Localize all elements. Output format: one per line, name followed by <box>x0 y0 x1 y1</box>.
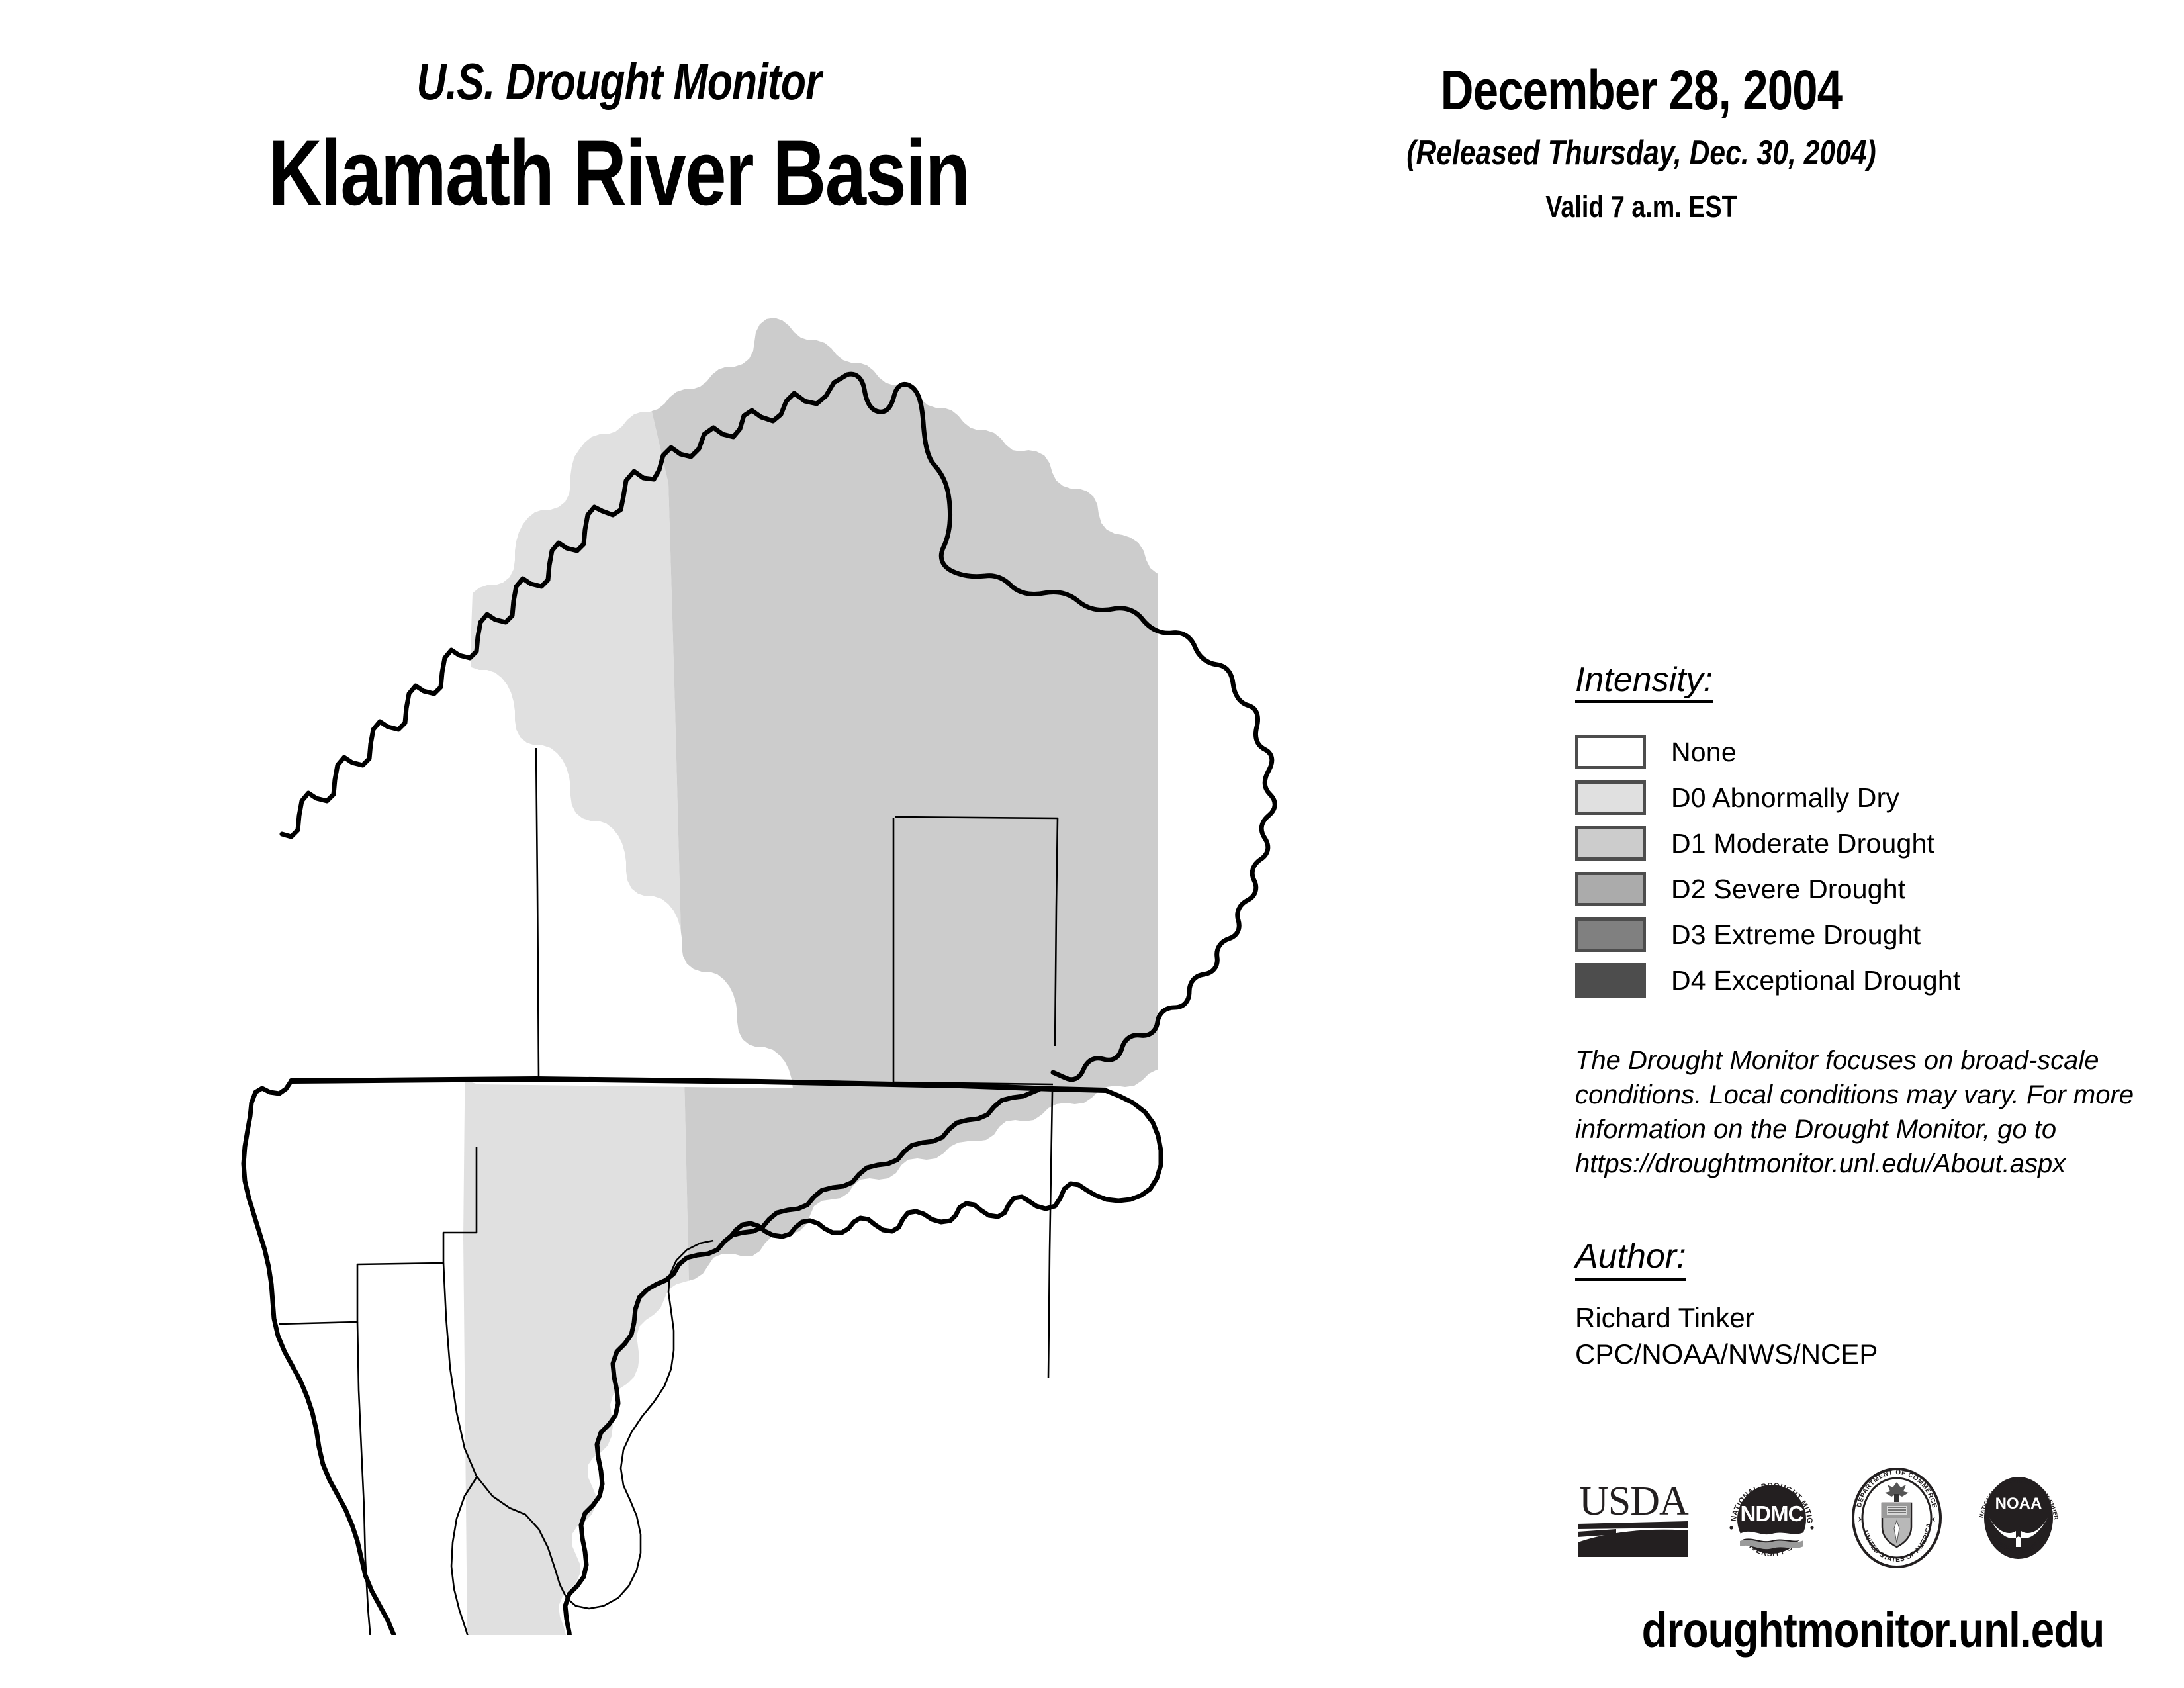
legend-label-d3: D3 Extreme Drought <box>1671 919 1921 951</box>
legend-title: Intensity: <box>1575 662 1713 703</box>
valid-time: Valid 7 a.m. EST <box>1343 189 1940 224</box>
ndmc-logo[interactable]: NATIONAL DROUGHT MITIGATION CENTER UNIVE… <box>1722 1468 1821 1568</box>
author-name: Richard Tinker <box>1575 1299 2171 1336</box>
disclaimer-line-1: The Drought Monitor focuses on broad-sca… <box>1575 1043 2144 1078</box>
page-title: Klamath River Basin <box>124 119 1114 226</box>
legend-swatch-d0 <box>1575 780 1646 815</box>
footer-url[interactable]: droughtmonitor.unl.edu <box>1617 1602 2129 1658</box>
usda-logo[interactable]: USDA <box>1575 1476 1693 1559</box>
legend-item-d3[interactable]: D3 Extreme Drought <box>1575 912 2171 958</box>
legend-label-d2: D2 Severe Drought <box>1671 874 1905 905</box>
legend-label-d4: D4 Exceptional Drought <box>1671 965 1960 996</box>
legend-label-d1: D1 Moderate Drought <box>1671 828 1934 859</box>
disclaimer-line-4[interactable]: https://droughtmonitor.unl.edu/About.asp… <box>1575 1147 2144 1181</box>
department-of-commerce-logo[interactable]: DEPARTMENT OF COMMERCE UNITED STATES OF … <box>1850 1468 1943 1568</box>
legend-item-none[interactable]: None <box>1575 729 2171 775</box>
author-affiliation: CPC/NOAA/NWS/NCEP <box>1575 1336 2171 1372</box>
header: U.S. Drought Monitor Klamath River Basin <box>0 0 1257 265</box>
legend-item-d0[interactable]: D0 Abnormally Dry <box>1575 775 2171 821</box>
date-header: December 28, 2004 (Released Thursday, De… <box>1277 0 2005 224</box>
legend-item-d2[interactable]: D2 Severe Drought <box>1575 867 2171 912</box>
author-heading: Author: <box>1575 1237 1686 1281</box>
noaa-logo[interactable]: NATIONAL OCEANIC AND ATMOSPHERIC ADMINIS… <box>1972 1468 2065 1568</box>
drought-monitor-page: U.S. Drought Monitor Klamath River Basin… <box>0 0 2184 1688</box>
svg-text:NOAA: NOAA <box>1995 1495 2042 1513</box>
legend-items: None D0 Abnormally Dry D1 Moderate Droug… <box>1575 729 2171 1004</box>
legend-swatch-d4 <box>1575 963 1646 998</box>
release-date: (Released Thursday, Dec. 30, 2004) <box>1343 133 1940 173</box>
logo-row: USDA NATIONAL DROUGHT MITIGATION CENTER … <box>1575 1466 2171 1569</box>
legend-label-none: None <box>1671 737 1737 768</box>
disclaimer-line-3: information on the Drought Monitor, go t… <box>1575 1112 2144 1147</box>
legend-swatch-d2 <box>1575 872 1646 906</box>
page-subtitle: U.S. Drought Monitor <box>124 52 1114 112</box>
basin-map <box>165 311 1423 1635</box>
legend-swatch-d1 <box>1575 826 1646 861</box>
valid-date: December 28, 2004 <box>1343 58 1940 122</box>
legend-item-d4[interactable]: D4 Exceptional Drought <box>1575 958 2171 1004</box>
svg-text:USDA: USDA <box>1579 1479 1689 1524</box>
basin-detail-svg <box>165 311 1423 1635</box>
disclaimer-line-2: conditions. Local conditions may vary. F… <box>1575 1078 2144 1112</box>
author-block: Richard Tinker CPC/NOAA/NWS/NCEP <box>1575 1299 2171 1373</box>
disclaimer-text: The Drought Monitor focuses on broad-sca… <box>1575 1043 2144 1181</box>
svg-text:NDMC: NDMC <box>1741 1501 1803 1526</box>
legend-swatch-none <box>1575 735 1646 769</box>
legend-item-d1[interactable]: D1 Moderate Drought <box>1575 821 2171 867</box>
legend-panel: Intensity: None D0 Abnormally Dry D1 Mod… <box>1575 662 2171 1372</box>
legend-swatch-d3 <box>1575 917 1646 952</box>
legend-label-d0: D0 Abnormally Dry <box>1671 782 1899 814</box>
